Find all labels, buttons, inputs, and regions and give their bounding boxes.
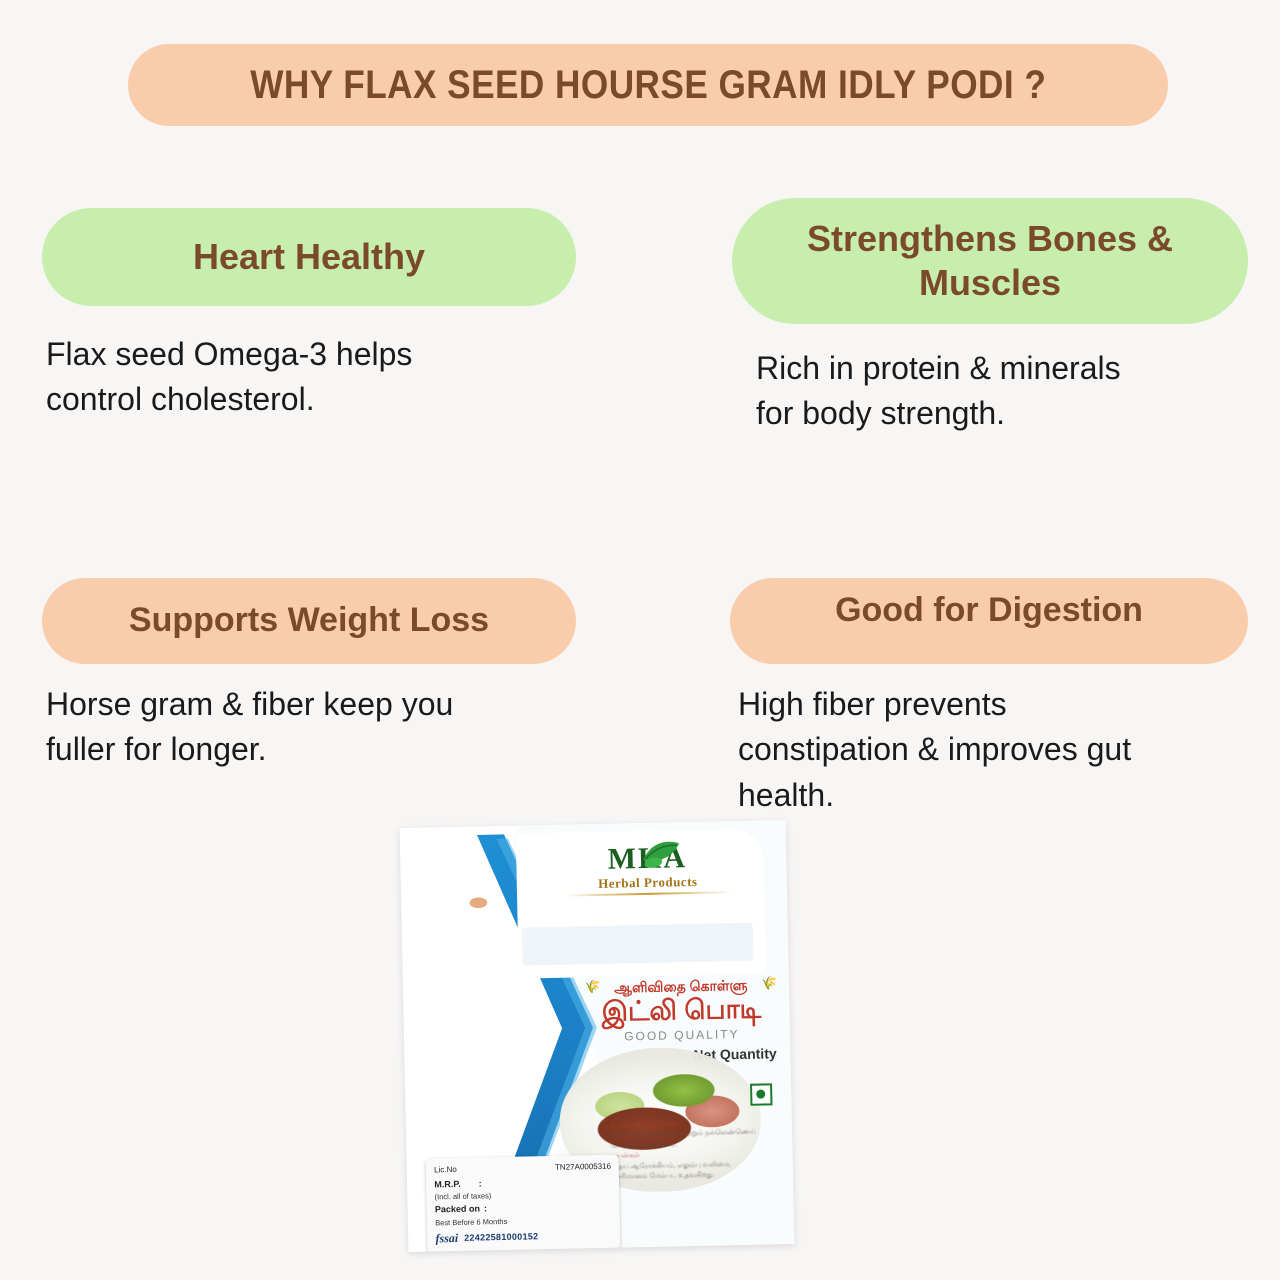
benefit-title-heart-healthy: Heart Healthy [193,235,425,279]
benefit-card-supports-weight-loss: Supports Weight Loss Horse gram & fiber … [42,578,576,773]
packet-window-strip [521,922,753,965]
fssai-logo: fssai [435,1231,458,1246]
leaf-icon [637,837,684,868]
benefit-title-strengthens-bones-muscles: Strengthens Bones & Muscles [807,217,1173,305]
mrp-label: M.R.P. [434,1176,461,1191]
product-packet-image: MKA Herbal Products 🌾 🌾 ஆளிவிதை கொள்ளு இ… [400,820,795,1252]
product-name-tamil: இட்லி பொடி [581,993,782,1028]
benefit-body-strengthens-bones-muscles: Rich in protein & minerals for body stre… [756,346,1248,437]
benefit-body-heart-healthy: Flax seed Omega-3 helps control choleste… [46,332,576,423]
wheat-ear-icon-left: 🌾 [584,979,601,995]
benefit-title-supports-weight-loss: Supports Weight Loss [129,600,489,641]
benefit-card-good-for-digestion: Good for Digestion High fiber prevents c… [730,578,1248,818]
license-value: TN27A0005316 [555,1160,611,1174]
packed-on-value: : [484,1202,487,1216]
wheat-ear-icon-right: 🌾 [761,975,778,991]
benefit-title-pill-heart-healthy: Heart Healthy [42,208,576,306]
benefit-title-pill-strengthens-bones-muscles: Strengthens Bones & Muscles [732,198,1248,324]
mrp-value: : [479,1176,482,1190]
benefit-title-pill-good-for-digestion: Good for Digestion [730,578,1248,664]
fssai-row: fssai 22422581000152 [435,1228,612,1247]
brand-tagline: Herbal Products [540,873,756,894]
packet-info-label: Lic.No TN27A0005316 M.R.P. : (Incl. all … [426,1154,621,1252]
fssai-number: 22422581000152 [464,1232,538,1244]
packet-description-text: உபயோகிக்கும் முறை இட்லி, தோசை, சாதம் மற்… [610,1117,781,1184]
benefit-body-supports-weight-loss: Horse gram & fiber keep you fuller for l… [46,682,576,773]
brand-logo-block: MKA Herbal Products [539,842,756,898]
benefit-title-good-for-digestion: Good for Digestion [835,590,1143,631]
vegetarian-mark-icon [750,1083,772,1105]
benefit-card-heart-healthy: Heart Healthy Flax seed Omega-3 helps co… [42,208,576,423]
benefit-body-good-for-digestion: High fiber prevents constipation & impro… [738,682,1248,818]
license-label: Lic.No [434,1164,457,1177]
packed-on-label: Packed on [435,1202,480,1217]
benefit-title-pill-supports-weight-loss: Supports Weight Loss [42,578,576,664]
quality-text: GOOD QUALITY [581,1026,782,1044]
benefit-card-strengthens-bones-muscles: Strengthens Bones & Muscles Rich in prot… [732,198,1248,437]
